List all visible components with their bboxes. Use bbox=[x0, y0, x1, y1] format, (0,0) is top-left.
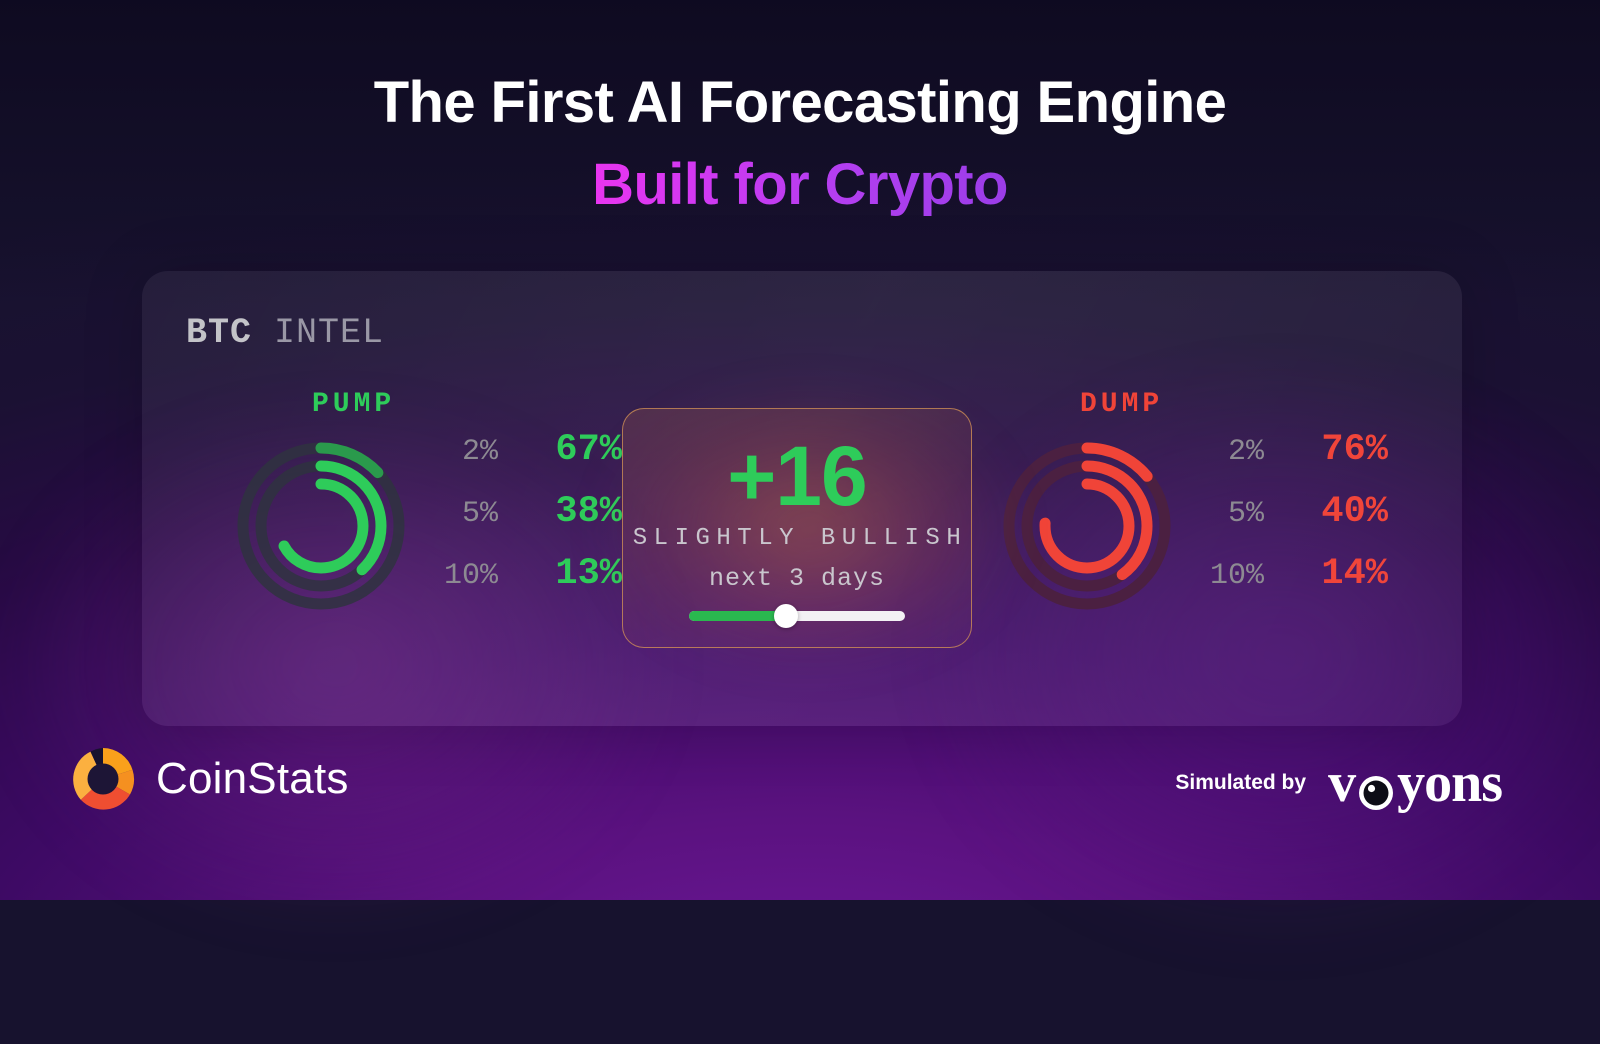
coinstats-logo-icon bbox=[68, 744, 138, 814]
forecast-sentiment: SLIGHTLY BULLISH bbox=[627, 525, 967, 552]
pump-label: PUMP bbox=[312, 389, 395, 420]
forecast-horizon: next 3 days bbox=[709, 564, 885, 593]
voyons-pre: v bbox=[1328, 755, 1355, 811]
dump-section: DUMP 2% 76% 5% 40% bbox=[970, 389, 1420, 679]
dump-value-5pct: 40% bbox=[1280, 491, 1388, 533]
dump-rings-svg bbox=[998, 437, 1176, 615]
panel-title-symbol: BTC bbox=[186, 313, 252, 353]
voyons-wordmark: v yons bbox=[1328, 755, 1502, 811]
slider-fill bbox=[689, 611, 786, 621]
pump-threshold-2pct: 2% bbox=[424, 435, 498, 469]
pump-rings-svg bbox=[232, 437, 410, 615]
slider-knob[interactable] bbox=[774, 604, 798, 628]
panel-title: BTC INTEL bbox=[186, 313, 384, 353]
dump-row-10pct: 10% 14% bbox=[1188, 553, 1388, 615]
coinstats-wordmark: CoinStats bbox=[156, 754, 349, 804]
simulated-by-label: Simulated by bbox=[1175, 771, 1306, 795]
dump-row-5pct: 5% 40% bbox=[1188, 491, 1388, 553]
pump-threshold-5pct: 5% bbox=[424, 497, 498, 531]
headline-line-1: The First AI Forecasting Engine bbox=[0, 62, 1600, 144]
panel-title-suffix: INTEL bbox=[274, 313, 384, 353]
forecast-slider[interactable] bbox=[689, 611, 905, 621]
brand-part-stats: Stats bbox=[247, 754, 348, 803]
brand-part-coin: Coin bbox=[156, 754, 247, 803]
simulated-by-block: Simulated by v yons bbox=[1175, 755, 1502, 811]
dump-row-2pct: 2% 76% bbox=[1188, 429, 1388, 491]
headline-line-2: Built for Crypto bbox=[592, 144, 1008, 226]
dump-value-10pct: 14% bbox=[1280, 553, 1388, 595]
coinstats-brand: CoinStats bbox=[68, 744, 349, 814]
dump-rings-chart bbox=[998, 437, 1176, 615]
eye-icon bbox=[1356, 767, 1396, 807]
voyons-post: yons bbox=[1397, 755, 1502, 811]
pump-rings-chart bbox=[232, 437, 410, 615]
pump-rows: 2% 67% 5% 38% 10% 13% bbox=[422, 429, 622, 615]
dump-threshold-2pct: 2% bbox=[1190, 435, 1264, 469]
headline: The First AI Forecasting Engine Built fo… bbox=[0, 62, 1600, 226]
pump-row-2pct: 2% 67% bbox=[422, 429, 622, 491]
pump-threshold-10pct: 10% bbox=[424, 559, 498, 593]
dump-threshold-10pct: 10% bbox=[1190, 559, 1264, 593]
dump-label: DUMP bbox=[1080, 389, 1163, 420]
pump-section: PUMP 2% 67% 5% 38% bbox=[204, 389, 654, 679]
dump-rows: 2% 76% 5% 40% 10% 14% bbox=[1188, 429, 1388, 615]
forecast-summary-card: +16 SLIGHTLY BULLISH next 3 days bbox=[622, 408, 972, 648]
dump-threshold-5pct: 5% bbox=[1190, 497, 1264, 531]
forecast-score: +16 bbox=[727, 431, 867, 521]
dump-value-2pct: 76% bbox=[1280, 429, 1388, 471]
pump-row-10pct: 10% 13% bbox=[422, 553, 622, 615]
pump-row-5pct: 5% 38% bbox=[422, 491, 622, 553]
